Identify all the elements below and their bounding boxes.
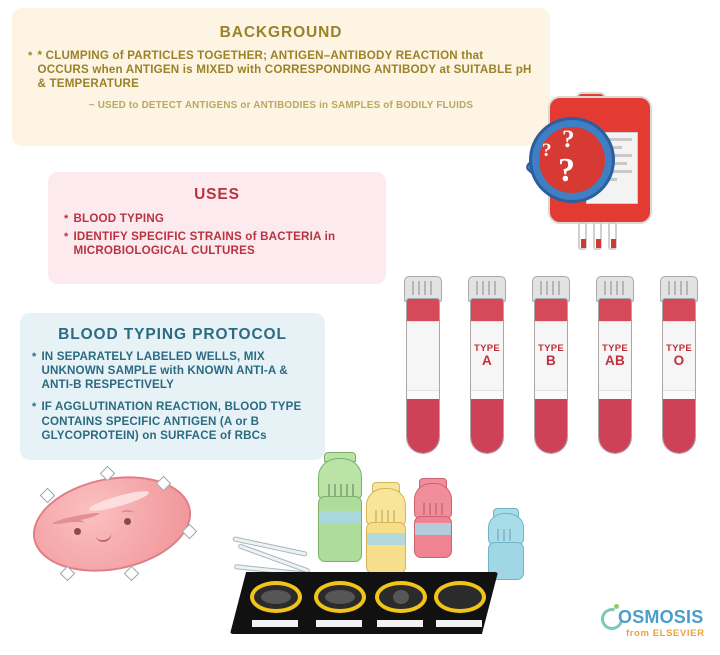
bullet-marker: * [28,49,32,64]
blood-bag-illustration: ? ? ? [520,92,660,257]
pink-dropper-bottle [414,478,452,558]
rbc-body [25,464,200,585]
tube-blood [471,399,503,453]
tube-plasma [599,299,631,321]
logo-name: OSMOSIS [618,607,703,628]
bottle-cap [366,488,406,526]
background-panel: BACKGROUND * * CLUMPING of PARTICLES TOG… [12,8,550,146]
plate-well [375,581,427,613]
tube-body: TYPE AB [598,298,632,454]
osmosis-logo[interactable]: OSMOSIS from ELSEVIER [600,604,712,646]
test-tube-rack: TYPE A TYPE B TYPE [402,276,714,456]
tube-port-fill [581,239,586,248]
rbc-eyebrow [71,520,84,525]
bullet-marker: * [32,400,36,415]
bullet-text: BLOOD TYPING [73,212,372,226]
test-tube [402,276,444,454]
test-tube: TYPE A [466,276,508,454]
well-label-strip [252,620,298,627]
well-sample [261,590,291,604]
tube-body: TYPE O [662,298,696,454]
antigen-marker-icon [124,566,140,582]
bottle-band [319,511,361,523]
tube-plasma [663,299,695,321]
tube-plasma [407,299,439,321]
tube-label [407,321,439,391]
illustration-canvas: BACKGROUND * * CLUMPING of PARTICLES TOG… [0,0,720,655]
bullet-item: * IDENTIFY SPECIFIC STRAINS of BACTERIA … [64,230,372,258]
yellow-dropper-bottle [366,482,406,574]
bullet-item: * IN SEPARATELY LABELED WELLS, MIX UNKNO… [32,350,315,392]
tube-blood [407,399,439,453]
tube-blood [599,399,631,453]
plate-well [434,581,486,613]
bullet-item: * IF AGGLUTINATION REACTION, BLOOD TYPE … [32,400,315,442]
test-tube: TYPE AB [594,276,636,454]
tube-port [608,222,617,250]
bullet-text: IDENTIFY SPECIFIC STRAINS of BACTERIA in… [73,230,372,258]
tube-blood [535,399,567,453]
tube-port [578,222,587,250]
bottle-body [366,522,406,574]
question-marks: ? ? ? [532,120,612,200]
magnifying-glass-icon: ? ? ? [520,120,612,212]
tube-label-type: A [482,354,492,368]
bottle-cap [318,458,362,500]
bottle-cap [414,483,452,519]
tube-body [406,298,440,454]
tube-blood [663,399,695,453]
test-tube: TYPE B [530,276,572,454]
tube-label: TYPE AB [599,321,631,391]
test-tube: TYPE O [658,276,700,454]
bullet-item: * BLOOD TYPING [64,212,372,227]
bullet-item: * * CLUMPING of PARTICLES TOGETHER; ANTI… [28,49,536,91]
well-label-strip [377,620,423,627]
uses-panel-heading: USES [48,172,386,204]
bullet-marker: * [64,212,68,227]
bullet-text: * CLUMPING of PARTICLES TOGETHER; ANTIGE… [37,49,536,91]
tube-port-fill [611,239,616,248]
plate-well [314,581,366,613]
well-sample [393,590,409,604]
tube-port [593,222,602,250]
bullet-marker: * [32,350,36,365]
tube-label: TYPE O [663,321,695,391]
background-panel-bullets: * * CLUMPING of PARTICLES TOGETHER; ANTI… [12,42,550,91]
bottle-band [367,533,405,545]
bottle-cap [488,513,524,545]
blood-typing-protocol-panel: BLOOD TYPING PROTOCOL * IN SEPARATELY LA… [20,313,325,460]
bullet-marker: * [64,230,68,245]
tube-label-type: AB [605,354,625,368]
well-label-strip [436,620,482,627]
tube-body: TYPE A [470,298,504,454]
tube-label: TYPE A [471,321,503,391]
uses-panel: USES * BLOOD TYPING * IDENTIFY SPECIFIC … [48,172,386,284]
well-sample [325,590,355,604]
blue-dropper-bottle [488,508,524,580]
tube-port-fill [596,239,601,248]
protocol-panel-bullets: * IN SEPARATELY LABELED WELLS, MIX UNKNO… [20,344,325,443]
plate-well [250,581,302,613]
tube-plasma [471,299,503,321]
blood-typing-well-plate [230,572,498,634]
bullet-text: IF AGGLUTINATION REACTION, BLOOD TYPE CO… [41,400,315,442]
red-blood-cell-character [18,468,208,583]
tube-plasma [535,299,567,321]
tube-label: TYPE B [535,321,567,391]
logo-subtitle: from ELSEVIER [626,628,705,639]
well-label-strip [316,620,362,627]
blood-bag-tubing [578,222,630,252]
tube-body: TYPE B [534,298,568,454]
rbc-eye [74,528,81,535]
background-panel-heading: BACKGROUND [12,8,550,42]
bottle-band [415,523,451,535]
tube-label-type: B [546,354,556,368]
bottle-body [414,516,452,558]
question-mark-icon: ? [562,126,575,154]
bullet-text: IN SEPARATELY LABELED WELLS, MIX UNKNOWN… [41,350,315,392]
protocol-panel-heading: BLOOD TYPING PROTOCOL [20,313,325,344]
question-mark-icon: ? [558,152,575,190]
background-panel-subnote: ~ USED to DETECT ANTIGENS or ANTIBODIES … [12,100,550,111]
uses-panel-bullets: * BLOOD TYPING * IDENTIFY SPECIFIC STRAI… [48,204,386,258]
tube-label-type: O [674,354,685,368]
rbc-eye [124,518,131,525]
question-mark-icon: ? [542,140,552,162]
rbc-eyebrow [121,510,134,515]
